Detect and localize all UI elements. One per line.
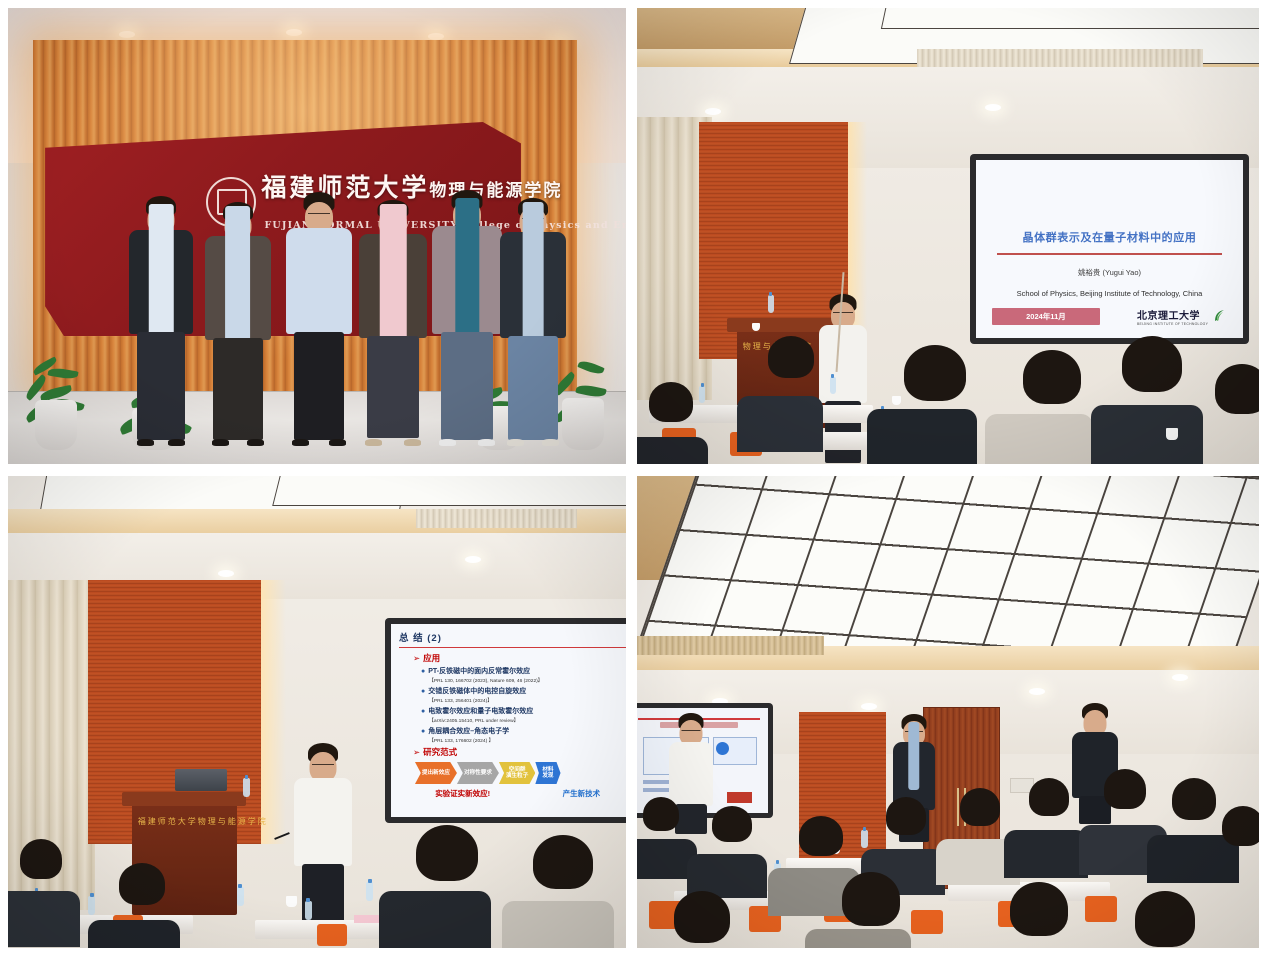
audience-member [1023, 350, 1081, 404]
bit-logo: 北京理工大学 BEIJING INSTITUTE OF TECHNOLOGY [1137, 307, 1227, 326]
group-photo-person [354, 196, 432, 446]
summary-slide: 总 结 (2) ➢应用 ●PT-反铁磁中的面内反常霍尔效应 【PRL 130, … [391, 624, 626, 818]
presentation-screen: 晶体群表示及在量子材料中的应用 姚裕贵 (Yugui Yao) School o… [970, 154, 1249, 344]
audience-member [119, 863, 165, 905]
audience-member [1222, 806, 1259, 846]
audience-member [712, 806, 752, 842]
audience-member [799, 816, 843, 856]
slide-surface: 晶体群表示及在量子材料中的应用 姚裕贵 (Yugui Yao) School o… [976, 160, 1243, 338]
flow-step-label: 对称性要求 [464, 770, 492, 776]
slide-bullet: ●交错反铁磁体中的电控自旋效应 [421, 686, 626, 696]
audience-member [886, 797, 926, 835]
ceiling-light-panel [881, 8, 1259, 28]
paper-cup [1166, 428, 1178, 440]
plant-pot [35, 400, 77, 450]
audience-member [1010, 882, 1068, 936]
group-photo-person [200, 198, 276, 446]
slide-surface: 总 结 (2) ➢应用 ●PT-反铁磁中的面内反常霍尔效应 【PRL 130, … [391, 624, 626, 818]
paper-cup [892, 396, 901, 405]
water-bottle [243, 778, 250, 797]
slide-rule [399, 647, 626, 648]
bullet-citation: 【PRL 133, 176602 (2024) 】 [429, 737, 626, 744]
bullet-text: 交错反铁磁体中的电控自旋效应 [428, 688, 526, 695]
bullet-text: 电致霍尔效应和量子电致霍尔效应 [428, 708, 533, 715]
group-photo-person [428, 190, 506, 446]
bullet-dot-icon: ● [421, 688, 425, 695]
water-bottle [366, 882, 373, 901]
speaker [292, 743, 354, 939]
section-marker-icon: ➢ [413, 653, 420, 663]
lectern-top [122, 792, 246, 806]
group-photo-person [496, 194, 570, 446]
ceiling-air-vent [416, 509, 577, 528]
ceiling-air-vent [637, 636, 824, 655]
photo-panel-group-photo: 福建师范大学物理与能源学院 FUJIAN NORMAL UNIVERSITY C… [8, 8, 626, 464]
audience-member [643, 797, 679, 831]
group-photo-person [280, 192, 358, 446]
audience-member [88, 920, 180, 948]
photo-panel-speaker-summary-slide: 总 结 (2) ➢应用 ●PT-反铁磁中的面内反常霍尔效应 【PRL 130, … [8, 476, 626, 948]
water-bottle [861, 830, 868, 848]
photo-panel-hall-wide-view [637, 476, 1259, 948]
slide-footer: 2024年11月 北京理工大学 BEIJING INSTITUTE OF TEC… [976, 307, 1243, 325]
audience-member [1147, 835, 1239, 883]
audience-member [867, 409, 977, 464]
audience-member [1215, 364, 1259, 414]
footer-note: 实验证实新效应! [435, 788, 490, 799]
door-handle [957, 788, 959, 826]
flow-step: 提出新效应 [415, 762, 457, 784]
water-bottle [699, 386, 705, 403]
audience-member [842, 872, 900, 926]
audience-member [649, 382, 693, 422]
section-marker-icon: ➢ [413, 747, 420, 757]
ceiling-light-panel [272, 476, 626, 506]
bullet-text: 角层耦合效应–角态电子学 [428, 728, 509, 735]
flow-step: 对称性要求 [457, 762, 499, 784]
ceiling-downlight [861, 703, 877, 710]
slide-date-badge: 2024年11月 [992, 308, 1100, 325]
bullet-citation: 【PRL 130, 166702 (2023), Nature 609, 46 … [429, 677, 626, 684]
slide-heading: 总 结 (2) [399, 630, 626, 644]
paper-cup [286, 896, 297, 907]
audience-member [737, 396, 823, 452]
slide-author: 姚裕贵 (Yugui Yao) [1078, 267, 1141, 278]
bullet-dot-icon: ● [421, 728, 425, 735]
audience-chair [911, 910, 943, 934]
slide-rule [997, 253, 1222, 255]
audience-member [637, 437, 708, 464]
wall-wash-light [261, 580, 286, 844]
water-bottle [237, 887, 244, 906]
slide-bullet: ●角层耦合效应–角态电子学 [421, 726, 626, 736]
audience-chair [1085, 896, 1117, 922]
photo-panel-speaker-title-slide: 晶体群表示及在量子材料中的应用 姚裕贵 (Yugui Yao) School o… [637, 8, 1259, 464]
audience-member [1091, 405, 1203, 464]
paper-cup [752, 323, 760, 331]
bullet-dot-icon: ● [421, 708, 425, 715]
audience-member [1135, 891, 1195, 947]
slide-bullet: ●PT-反铁磁中的面内反常霍尔效应 [421, 666, 626, 676]
ceiling-downlight [985, 104, 1001, 111]
audience-member [502, 901, 614, 948]
flow-step-label: 空间群 演生粒子 [506, 767, 528, 780]
bit-logo-chinese: 北京理工大学 [1137, 307, 1208, 322]
slide-section-heading: ➢研究范式 [413, 746, 626, 758]
footer-note: 产生新技术 [563, 788, 601, 799]
section-label: 研究范式 [423, 747, 457, 757]
audience-member [805, 929, 911, 948]
audience-member [960, 788, 1000, 826]
flow-step-label: 提出新效应 [422, 770, 450, 776]
bullet-citation: 【PRL 133, 256401 (2024)】 [429, 697, 626, 704]
water-bottle [830, 377, 836, 394]
ceiling-downlight [119, 31, 135, 38]
section-label: 应用 [423, 653, 440, 663]
lectern-label: 福建师范大学物理与能源学院 [138, 816, 268, 827]
slide-footer-notes: 实验证实新效应! 产生新技术 [399, 788, 626, 799]
audience-member [1122, 336, 1182, 392]
audience-member [533, 835, 593, 889]
audience-member [8, 891, 80, 947]
presentation-screen: 总 结 (2) ➢应用 ●PT-反铁磁中的面内反常霍尔效应 【PRL 130, … [385, 618, 626, 824]
bullet-citation: 【arXiv:2405.15410, PRL under review】 [429, 717, 626, 724]
title-slide: 晶体群表示及在量子材料中的应用 姚裕贵 (Yugui Yao) School o… [976, 160, 1243, 338]
audience-member [1172, 778, 1216, 820]
photo-collage: 福建师范大学物理与能源学院 FUJIAN NORMAL UNIVERSITY C… [0, 0, 1267, 962]
ceiling-air-vent [917, 49, 1203, 67]
flow-step: 材料 发现 [535, 762, 560, 784]
audience-chair [317, 924, 347, 946]
ceiling-downlight [286, 29, 302, 36]
audience-member [768, 336, 814, 378]
audience-member [379, 891, 491, 948]
audience-member [985, 414, 1093, 464]
audience-member [1004, 830, 1088, 878]
slide-affiliation: School of Physics, Beijing Institute of … [1017, 289, 1203, 298]
group-photo-person [125, 196, 197, 446]
slide-badge [727, 792, 752, 803]
bit-logo-english: BEIJING INSTITUTE OF TECHNOLOGY [1137, 322, 1208, 326]
audience-member [20, 839, 62, 879]
audience-member [674, 891, 730, 943]
audience-member [416, 825, 478, 881]
slide-section-heading: ➢应用 [413, 652, 626, 664]
flow-step: 空间群 演生粒子 [499, 762, 535, 784]
flow-step-label: 材料 发现 [542, 767, 553, 780]
water-bottle [305, 901, 312, 920]
potted-plant [20, 300, 92, 450]
slide-bullet: ●电致霍尔效应和量子电致霍尔效应 [421, 706, 626, 716]
audience-member [904, 345, 966, 401]
laptop [175, 769, 227, 791]
water-bottle [768, 295, 774, 313]
leaf-icon [1211, 308, 1227, 324]
process-flow-diagram: 提出新效应 对称性要求 空间群 演生粒子 材料 发现 [415, 762, 626, 784]
bullet-dot-icon: ● [421, 668, 425, 675]
bullet-text: PT-反铁磁中的面内反常霍尔效应 [428, 668, 530, 675]
audience-member [1029, 778, 1069, 816]
water-bottle [88, 896, 95, 915]
slide-title: 晶体群表示及在量子材料中的应用 [1022, 229, 1196, 245]
audience-member [1104, 769, 1146, 809]
